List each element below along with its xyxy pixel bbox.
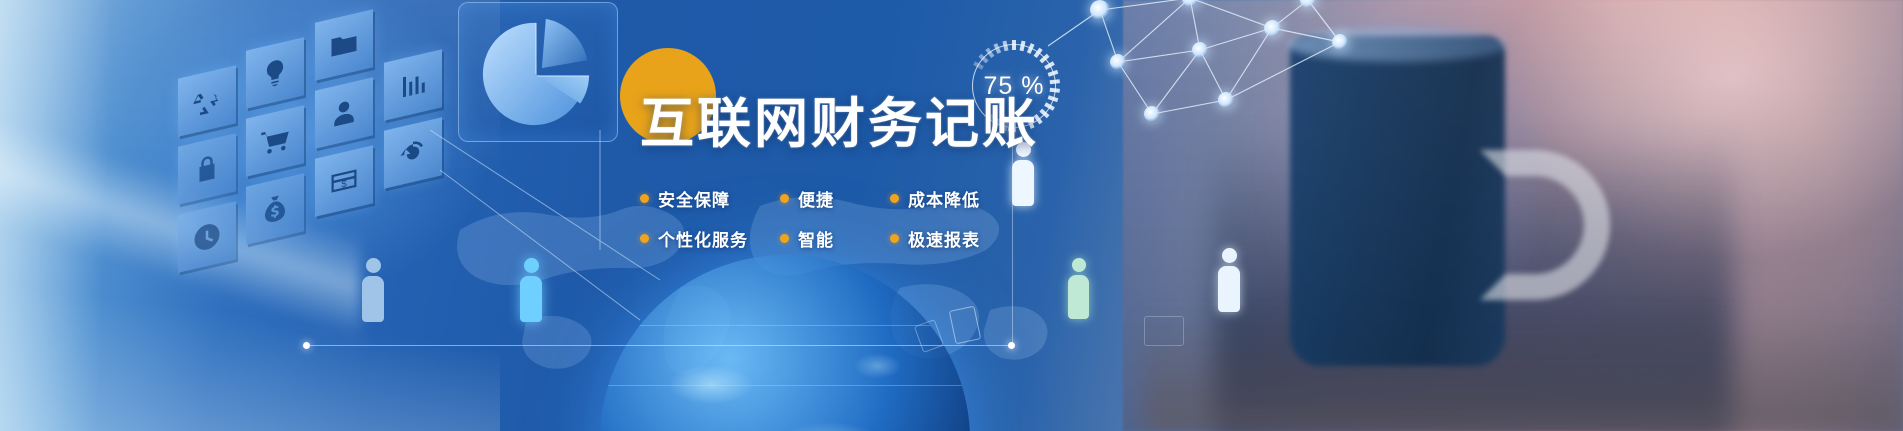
feature-label: 成本降低 — [908, 186, 980, 211]
feature-item: 极速报表 — [890, 226, 1010, 251]
network-node — [1110, 54, 1126, 70]
bullet-icon — [890, 194, 899, 203]
feature-label: 安全保障 — [658, 186, 730, 211]
feature-label: 个性化服务 — [658, 226, 748, 251]
tile-clock-check-icon — [178, 201, 236, 272]
feature-item: 便捷 — [780, 186, 890, 211]
tile-folder-icon — [315, 9, 373, 80]
line-endpoint-node — [303, 342, 310, 349]
tile-credit-card-icon: $ — [315, 145, 373, 216]
svg-text:$: $ — [341, 179, 347, 191]
network-node — [1218, 92, 1234, 108]
feature-label: 便捷 — [798, 186, 834, 211]
tile-person-icon — [315, 77, 373, 148]
feature-label: 智能 — [798, 226, 834, 251]
tile-money-bag-icon — [246, 173, 304, 244]
network-node — [1090, 0, 1110, 20]
bullet-icon — [890, 234, 899, 243]
feature-list: 安全保障 便捷 成本降低 个性化服务 智能 极速报表 — [640, 179, 1200, 259]
pie-chart-graphic — [477, 15, 595, 133]
hero-banner: $ $ — [0, 0, 1903, 431]
bullet-icon — [780, 194, 789, 203]
feature-item: 安全保障 — [640, 186, 780, 211]
feature-item: 智能 — [780, 226, 890, 251]
pie-chart-panel — [458, 2, 618, 142]
network-node — [1264, 20, 1281, 37]
feature-label: 极速报表 — [908, 226, 980, 251]
person-silhouette — [1068, 258, 1089, 319]
person-silhouette — [362, 258, 384, 322]
svg-text:$: $ — [410, 149, 417, 162]
tile-shopping-cart-icon — [246, 105, 304, 176]
tile-bar-chart-icon — [384, 49, 442, 120]
tile-lock-icon — [178, 133, 236, 204]
tile-recycle-icon — [178, 65, 236, 136]
network-node — [1192, 42, 1208, 58]
line-endpoint-node — [1008, 342, 1015, 349]
ghost-panel — [1144, 316, 1184, 346]
bullet-icon — [640, 234, 649, 243]
bullet-icon — [780, 234, 789, 243]
feature-item: 个性化服务 — [640, 226, 780, 251]
tile-lightbulb-icon — [246, 37, 304, 108]
page-title: 互联网财务记账 — [640, 96, 1200, 153]
bullet-icon — [640, 194, 649, 203]
network-node — [1332, 34, 1348, 50]
icon-cube-cluster: $ $ — [160, 10, 460, 270]
banner-content: 互联网财务记账 安全保障 便捷 成本降低 个性化服务 智能 — [640, 96, 1200, 259]
person-silhouette — [1218, 248, 1240, 312]
feature-item: 成本降低 — [890, 186, 1010, 211]
